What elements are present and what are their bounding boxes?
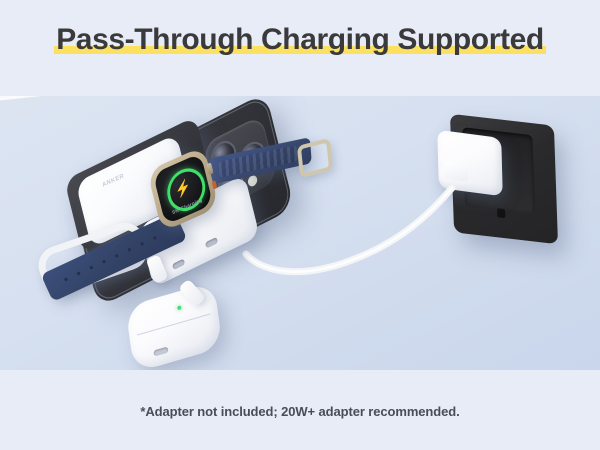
airpods-seam: [137, 314, 210, 336]
footer-note: *Adapter not included; 20W+ adapter reco…: [0, 404, 600, 419]
headline-text: Pass-Through Charging Supported: [56, 23, 544, 56]
promo-banner: Pass-Through Charging Supported: [0, 0, 600, 450]
airpods-charging-port: [153, 346, 168, 356]
usb-c-port: [172, 258, 185, 270]
product-photo: ANKER ⚡ 5% Charging: [0, 96, 600, 370]
airpods-status-led: [177, 305, 181, 310]
page-title: Pass-Through Charging Supported: [54, 22, 546, 58]
usb-c-port: [205, 237, 218, 249]
headline-container: Pass-Through Charging Supported: [0, 22, 600, 58]
